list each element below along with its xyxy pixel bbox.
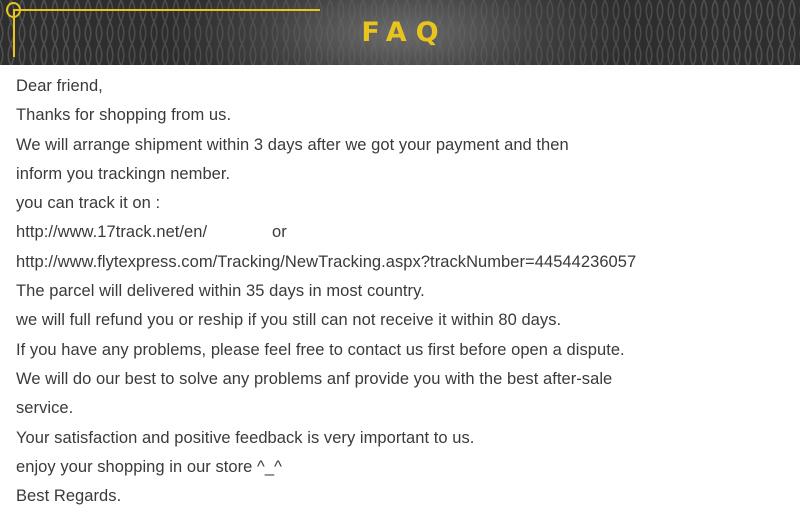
faq-text-line: enjoy your shopping in our store ^_^: [16, 453, 800, 482]
faq-page: FAQ Dear friend,Thanks for shopping from…: [0, 0, 800, 524]
faq-text-line: If you have any problems, please feel fr…: [16, 336, 800, 365]
faq-text-line: We will arrange shipment within 3 days a…: [16, 131, 800, 160]
page-title: FAQ: [0, 0, 800, 65]
faq-text-line: Thanks for shopping from us.: [16, 101, 800, 130]
faq-text-line: http://www.17track.net/en/ or: [16, 218, 800, 247]
faq-text-line: Dear friend,: [16, 72, 800, 101]
faq-text-line: We will do our best to solve any problem…: [16, 365, 800, 394]
faq-body-text: Dear friend,Thanks for shopping from us.…: [0, 65, 800, 524]
faq-text-line: Best Regards.: [16, 482, 800, 511]
faq-text-line: inform you trackingn nember.: [16, 160, 800, 189]
faq-text-line: you can track it on :: [16, 189, 800, 218]
faq-text-line: service.: [16, 394, 800, 423]
faq-text-line: Your satisfaction and positive feedback …: [16, 424, 800, 453]
faq-header-banner: FAQ: [0, 0, 800, 65]
faq-text-line: we will full refund you or reship if you…: [16, 306, 800, 335]
faq-text-line: http://www.flytexpress.com/Tracking/NewT…: [16, 248, 800, 277]
faq-text-line: The parcel will delivered within 35 days…: [16, 277, 800, 306]
